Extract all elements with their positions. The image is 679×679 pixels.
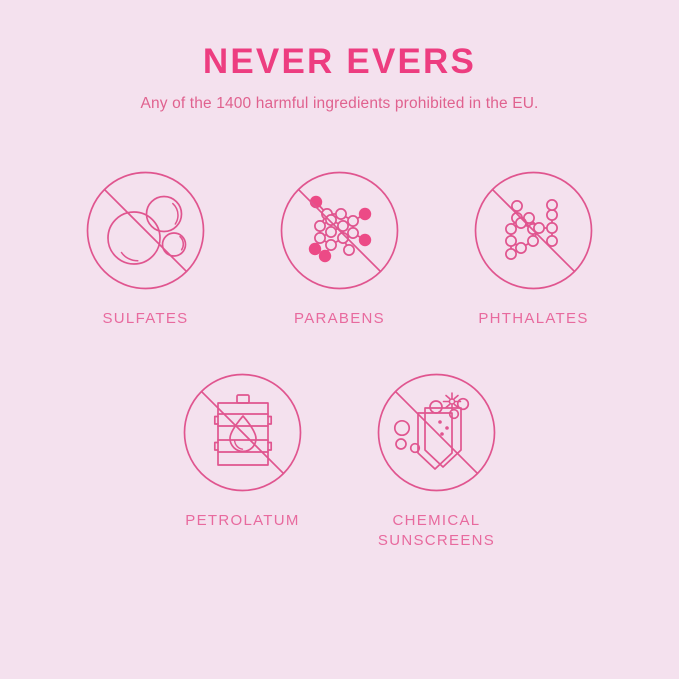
ingredient-row-1: SULFATES [0, 170, 679, 329]
ingredient-item-chemical-sunscreens: CHEMICAL SUNSCREENS [376, 372, 497, 552]
no-phthalates-molecule-icon [473, 170, 594, 291]
ingredient-row-2: PETROLATUM [0, 372, 679, 552]
ingredient-item-phthalates: PHTHALATES [473, 170, 594, 329]
ingredient-item-sulfates: SULFATES [85, 170, 206, 329]
no-sulfates-bubbles-icon [85, 170, 206, 291]
no-chemical-sunscreens-bottle-icon [376, 372, 497, 493]
no-petrolatum-barrel-icon [182, 372, 303, 493]
never-evers-infographic: NEVER EVERS Any of the 1400 harmful ingr… [0, 0, 679, 679]
ingredient-label: PETROLATUM [185, 511, 299, 531]
page-subtitle: Any of the 1400 harmful ingredients proh… [0, 95, 679, 113]
ingredient-label: PARABENS [294, 309, 385, 329]
ingredient-label: SULFATES [103, 309, 189, 329]
no-parabens-molecule-icon [279, 170, 400, 291]
header: NEVER EVERS Any of the 1400 harmful ingr… [0, 0, 679, 113]
page-title: NEVER EVERS [0, 44, 679, 81]
ingredient-item-parabens: PARABENS [279, 170, 400, 329]
ingredient-label: PHTHALATES [478, 309, 588, 329]
ingredient-label: CHEMICAL SUNSCREENS [378, 511, 495, 552]
ingredient-item-petrolatum: PETROLATUM [182, 372, 303, 531]
